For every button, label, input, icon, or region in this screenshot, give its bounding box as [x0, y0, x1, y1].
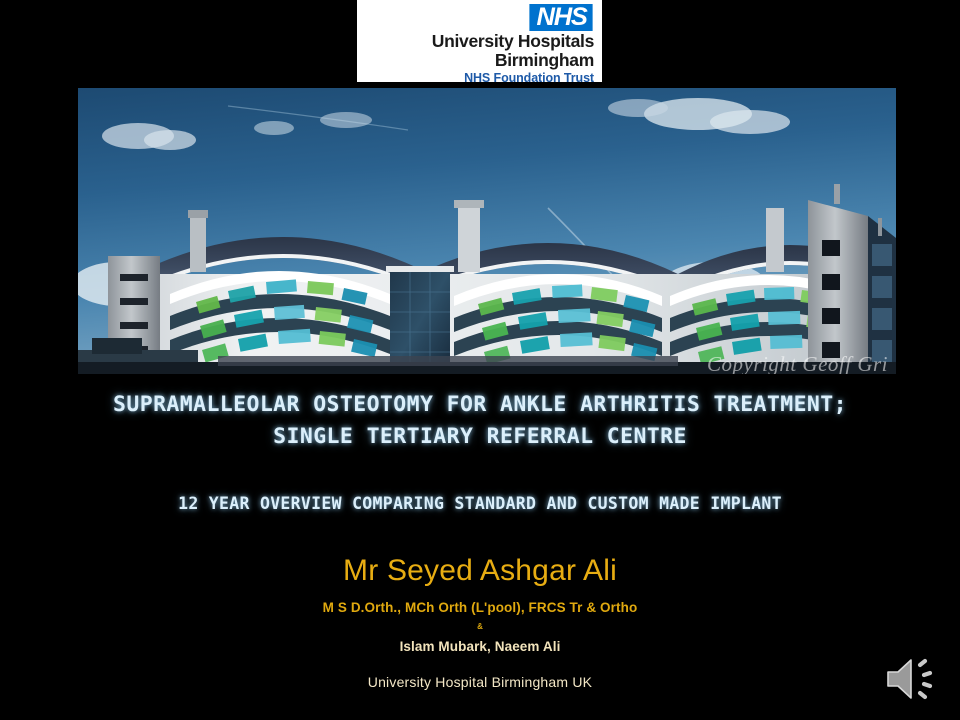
- trust-name-line2: Birmingham: [432, 51, 594, 70]
- hospital-building-photo: Copyright Geoff Gri: [78, 88, 896, 374]
- speaker-audio-icon[interactable]: [884, 653, 946, 705]
- trust-foundation-label: NHS Foundation Trust: [464, 71, 594, 85]
- title-line-2: SINGLE TERTIARY REFERRAL CENTRE: [0, 421, 960, 453]
- title-line-1: SUPRAMALLEOLAR OSTEOTOMY FOR ANKLE ARTHR…: [0, 389, 960, 421]
- subtitle-line-1: 12 YEAR OVERVIEW COMPARING STANDARD AND …: [0, 492, 960, 516]
- author-name: Mr Seyed Ashgar Ali: [0, 552, 960, 590]
- nhs-trust-logo: NHS University Hospitals Birmingham NHS …: [357, 0, 602, 82]
- presentation-slide: NHS University Hospitals Birmingham NHS …: [0, 0, 960, 720]
- co-authors: Islam Mubark, Naeem Ali: [0, 637, 960, 657]
- hospital-photo-graphic: [78, 88, 896, 374]
- nhs-logo-mark: NHS: [529, 4, 592, 31]
- author-ampersand: &: [0, 621, 960, 633]
- trust-name-line1: University Hospitals: [432, 31, 594, 51]
- slide-subtitle: 12 YEAR OVERVIEW COMPARING STANDARD AND …: [0, 492, 960, 516]
- author-block: Mr Seyed Ashgar Ali M S D.Orth., MCh Ort…: [0, 552, 960, 693]
- trust-name: University Hospitals Birmingham: [432, 32, 594, 70]
- slide-title: SUPRAMALLEOLAR OSTEOTOMY FOR ANKLE ARTHR…: [0, 389, 960, 453]
- author-credentials: M S D.Orth., MCh Orth (L'pool), FRCS Tr …: [0, 597, 960, 619]
- speaker-audio-icon-graphic: [884, 653, 946, 705]
- affiliation: University Hospital Birmingham UK: [0, 671, 960, 693]
